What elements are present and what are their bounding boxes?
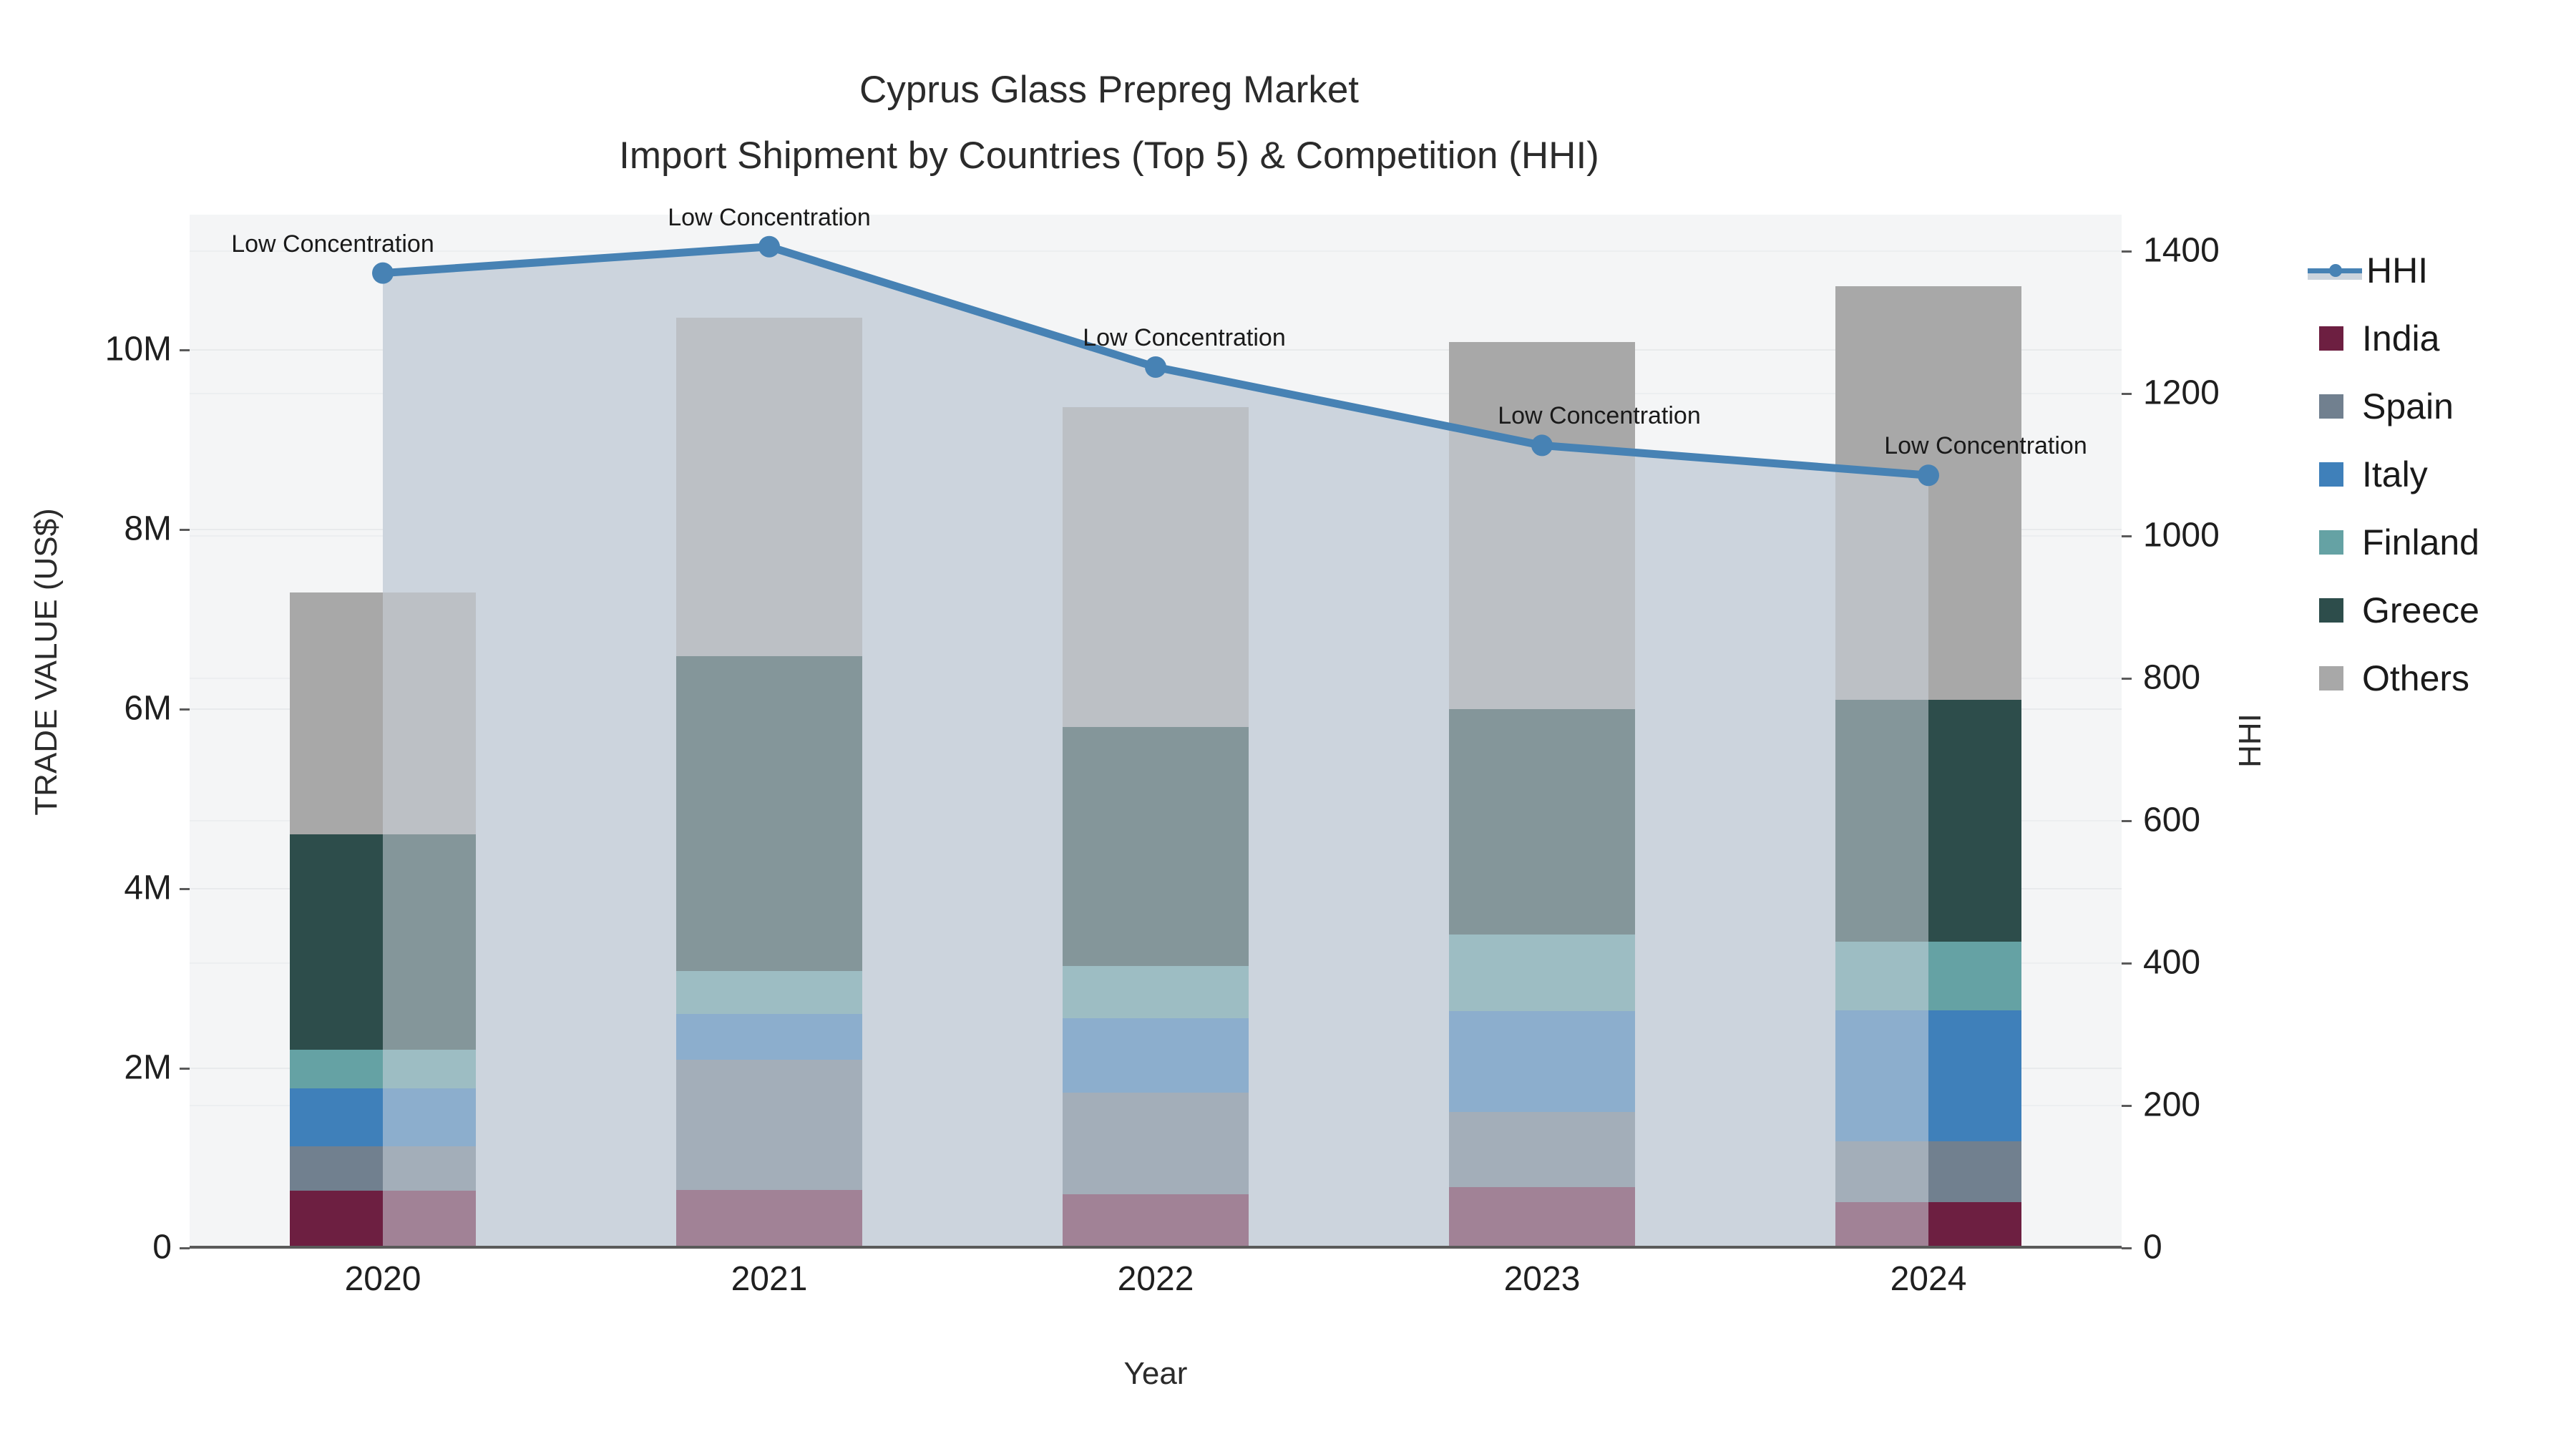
y-tick-left-10M: 10M: [105, 330, 172, 369]
bar-segment-others-2023[interactable]: [1449, 342, 1634, 709]
legend-label-spain: Spain: [2362, 389, 2454, 424]
y-axis-label-right: HHI: [2233, 669, 2268, 812]
bar-segment-others-2024[interactable]: [1835, 286, 2021, 699]
legend-line-dot: [2329, 264, 2342, 277]
y-tick-mark-right-5: [2122, 535, 2132, 537]
y-tick-mark-right-3: [2122, 820, 2132, 822]
y-tick-right-1200: 1200: [2143, 373, 2220, 412]
bar-segment-finland-2022[interactable]: [1063, 966, 1248, 1018]
y-tick-mark-left-4: [180, 529, 190, 531]
chart-title: Cyprus Glass Prepreg Market: [0, 57, 2218, 123]
bar-segment-india-2022[interactable]: [1063, 1194, 1248, 1247]
chart-subtitle: Import Shipment by Countries (Top 5) & C…: [0, 123, 2218, 189]
y-tick-mark-right-6: [2122, 393, 2132, 395]
legend-item-italy[interactable]: Italy: [2308, 440, 2565, 508]
annotation-2021: Low Concentration: [668, 204, 871, 232]
legend-swatch-finland: [2319, 530, 2343, 555]
legend-item-india[interactable]: India: [2308, 304, 2565, 372]
y-tick-right-1400: 1400: [2143, 230, 2220, 270]
legend: HHIIndiaSpainItalyFinlandGreeceOthers: [2308, 236, 2565, 712]
legend-label-greece: Greece: [2362, 592, 2479, 628]
bar-segment-finland-2023[interactable]: [1449, 935, 1634, 1011]
legend-item-greece[interactable]: Greece: [2308, 576, 2565, 644]
bar-segment-italy-2020[interactable]: [290, 1088, 475, 1147]
legend-line-icon: [2308, 258, 2362, 283]
gridline-right-7: [190, 250, 2122, 252]
legend-item-others[interactable]: Others: [2308, 644, 2565, 712]
bar-segment-spain-2023[interactable]: [1449, 1112, 1634, 1187]
legend-label-india: India: [2362, 321, 2439, 356]
bar-segment-finland-2021[interactable]: [676, 971, 862, 1014]
x-tick-2020: 2020: [345, 1259, 421, 1299]
y-tick-right-800: 800: [2143, 658, 2200, 697]
x-tick-2024: 2024: [1890, 1259, 1967, 1299]
y-tick-mark-left-1: [180, 1068, 190, 1070]
y-tick-left-4M: 4M: [124, 869, 172, 908]
bar-segment-spain-2021[interactable]: [676, 1060, 862, 1190]
bar-segment-india-2023[interactable]: [1449, 1187, 1634, 1247]
legend-label-hhi: HHI: [2366, 253, 2428, 288]
y-tick-mark-left-0: [180, 1247, 190, 1249]
legend-label-others: Others: [2362, 660, 2469, 696]
y-tick-mark-left-3: [180, 708, 190, 711]
legend-label-finland: Finland: [2362, 525, 2479, 560]
x-tick-2022: 2022: [1118, 1259, 1194, 1299]
y-tick-mark-right-2: [2122, 962, 2132, 965]
y-tick-left-2M: 2M: [124, 1048, 172, 1088]
bar-segment-greece-2020[interactable]: [290, 834, 475, 1050]
legend-swatch-spain: [2319, 394, 2343, 419]
x-tick-2021: 2021: [731, 1259, 808, 1299]
bar-segment-others-2020[interactable]: [290, 592, 475, 834]
gridline-right-6: [190, 393, 2122, 394]
chart-title-block: Cyprus Glass Prepreg Market Import Shipm…: [0, 57, 2218, 189]
bar-segment-others-2022[interactable]: [1063, 407, 1248, 728]
bar-segment-india-2020[interactable]: [290, 1191, 475, 1247]
annotation-2022: Low Concentration: [1083, 324, 1286, 352]
bar-segment-others-2021[interactable]: [676, 318, 862, 656]
legend-swatch-india: [2319, 326, 2343, 351]
x-axis-line: [190, 1246, 2122, 1249]
bar-segment-india-2024[interactable]: [1835, 1202, 2021, 1247]
legend-swatch-others: [2319, 666, 2343, 691]
y-tick-left-0: 0: [152, 1228, 172, 1267]
y-tick-right-200: 200: [2143, 1085, 2200, 1124]
y-tick-mark-left-5: [180, 349, 190, 351]
bar-segment-india-2021[interactable]: [676, 1190, 862, 1247]
bar-segment-italy-2021[interactable]: [676, 1014, 862, 1060]
y-tick-mark-right-1: [2122, 1105, 2132, 1107]
annotation-2020: Low Concentration: [231, 230, 434, 258]
legend-item-spain[interactable]: Spain: [2308, 372, 2565, 440]
bar-segment-greece-2023[interactable]: [1449, 709, 1634, 935]
bar-segment-italy-2024[interactable]: [1835, 1010, 2021, 1141]
bar-segment-spain-2022[interactable]: [1063, 1093, 1248, 1194]
y-tick-right-400: 400: [2143, 942, 2200, 982]
legend-swatch-greece: [2319, 598, 2343, 623]
y-tick-right-0: 0: [2143, 1228, 2162, 1267]
bar-segment-italy-2023[interactable]: [1449, 1011, 1634, 1112]
y-tick-right-600: 600: [2143, 800, 2200, 839]
y-tick-right-1000: 1000: [2143, 515, 2220, 555]
y-tick-left-8M: 8M: [124, 509, 172, 549]
bar-segment-spain-2020[interactable]: [290, 1146, 475, 1190]
x-axis-label: Year: [190, 1356, 2122, 1392]
annotation-2024: Low Concentration: [1884, 432, 2087, 460]
legend-item-hhi[interactable]: HHI: [2308, 236, 2565, 304]
bar-segment-finland-2020[interactable]: [290, 1050, 475, 1088]
y-tick-left-6M: 6M: [124, 689, 172, 728]
bar-segment-greece-2024[interactable]: [1835, 700, 2021, 942]
bar-segment-greece-2022[interactable]: [1063, 727, 1248, 966]
bar-segment-greece-2021[interactable]: [676, 656, 862, 970]
annotation-2023: Low Concentration: [1498, 402, 1701, 430]
legend-item-finland[interactable]: Finland: [2308, 508, 2565, 576]
y-tick-mark-right-7: [2122, 250, 2132, 253]
y-tick-mark-right-0: [2122, 1247, 2132, 1249]
y-tick-mark-left-2: [180, 888, 190, 890]
bar-segment-spain-2024[interactable]: [1835, 1141, 2021, 1202]
y-tick-mark-right-4: [2122, 678, 2132, 680]
legend-swatch-italy: [2319, 462, 2343, 487]
y-axis-label-left: TRADE VALUE (US$): [29, 433, 64, 891]
x-tick-2023: 2023: [1504, 1259, 1581, 1299]
chart-canvas: Cyprus Glass Prepreg Market Import Shipm…: [0, 0, 2576, 1449]
legend-label-italy: Italy: [2362, 457, 2428, 492]
bar-segment-italy-2022[interactable]: [1063, 1018, 1248, 1093]
bar-segment-finland-2024[interactable]: [1835, 942, 2021, 1010]
